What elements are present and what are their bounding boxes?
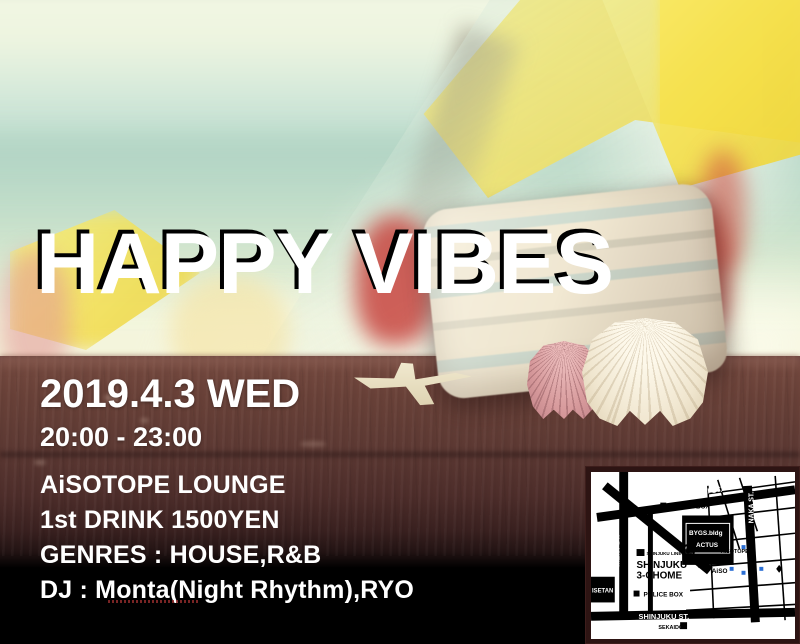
map-svg: YASUKUNI ST. MEIJI ST. NAKA ST. SHINJUKU… [591, 472, 795, 639]
map-label-aiso: AiSO [712, 568, 728, 575]
wood-plank-seam [0, 452, 800, 457]
location-map-inset[interactable]: YASUKUNI ST. MEIJI ST. NAKA ST. SHINJUKU… [585, 466, 800, 644]
map-label-shinjuku-st: SHINJUKU ST. [639, 612, 690, 621]
map-label-meiji: MEIJI ST. [613, 535, 622, 567]
map-label-bygs: BYGS.bldg [689, 530, 723, 537]
map-label-3-chome: 3-CHOME [637, 571, 683, 582]
map-label-naka: NAKA ST. [748, 492, 755, 524]
event-time: 20:00 - 23:00 [40, 424, 202, 451]
event-date: 2019.4.3 WED [40, 374, 300, 414]
wood-speck [34, 460, 46, 465]
white-scallop-shell [582, 318, 708, 426]
venue-name: AiSOTOPE LOUNGE [40, 468, 580, 503]
map-label-isetan: ISETAN [592, 589, 613, 595]
map-label-shinjuku-line: SHINJUKU LINE [646, 551, 681, 556]
map-label-police-box-top: POLICE BOX [670, 504, 710, 511]
wood-speck [300, 441, 326, 447]
flyer-title: HAPPY VIBES [36, 221, 613, 307]
shell-ribs [582, 318, 708, 426]
map-label-police-box-bottom: POLICE BOX [643, 592, 683, 599]
map-label-sekaido: SEKAIDO [658, 625, 683, 631]
event-flyer: HAPPY VIBES 2019.4.3 WED 20:00 - 23:00 A… [0, 0, 800, 644]
map-label-aisotope: AiSOTOPE [721, 549, 749, 555]
map-label-shinjuku: SHINJUKU [637, 560, 688, 571]
dj-lineup: DJ : Monta(Night Rhythm),RYO [40, 573, 580, 608]
map-label-actus: ACTUS [696, 542, 719, 549]
dj-lineup-text: DJ : Monta(Night Rhythm),RYO [40, 576, 414, 604]
event-info-block: AiSOTOPE LOUNGE 1st DRINK 1500YEN GENRES… [40, 468, 580, 608]
genres: GENRES : HOUSE,R&B [40, 538, 580, 573]
drink-price: 1st DRINK 1500YEN [40, 503, 580, 538]
spellcheck-underline-icon [108, 600, 198, 603]
map-canvas[interactable]: YASUKUNI ST. MEIJI ST. NAKA ST. SHINJUKU… [591, 472, 795, 639]
